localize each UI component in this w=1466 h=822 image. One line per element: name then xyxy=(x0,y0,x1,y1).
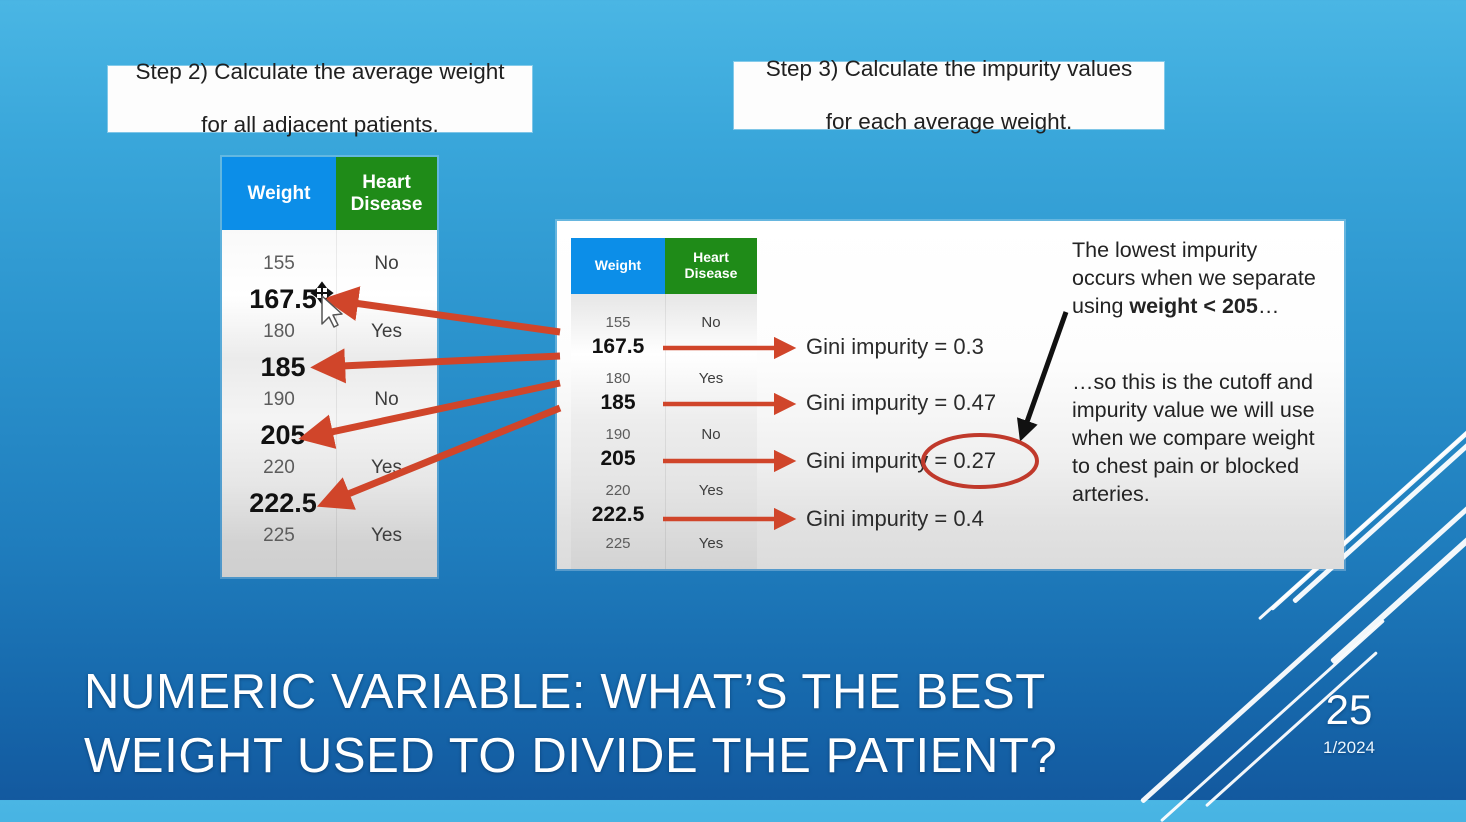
slide-date: 1/2024 xyxy=(1304,738,1394,758)
cell-weight: 180 xyxy=(222,321,336,343)
average-weight-value: 167.5 xyxy=(571,335,665,359)
note-p2-line5: arteries. xyxy=(1072,482,1150,506)
step3-caption-box: Step 3) Calculate the impurity values fo… xyxy=(734,62,1164,129)
gini-impurity-text: Gini impurity = 0.4 xyxy=(806,506,984,532)
cell-heart-disease: No xyxy=(336,389,437,411)
cell-weight: 155 xyxy=(222,253,336,275)
cell-weight: 225 xyxy=(222,525,336,547)
average-weight-value: 185 xyxy=(222,352,344,383)
step3-caption-text: Step 3) Calculate the impurity values fo… xyxy=(746,56,1152,136)
note-p1-line3-prefix: using xyxy=(1072,294,1129,318)
average-weight-value: 185 xyxy=(571,391,665,415)
note-paragraph-2: …so this is the cutoff and impurity valu… xyxy=(1072,369,1344,509)
gini-impurity-text: Gini impurity = 0.27 xyxy=(806,448,996,474)
cell-weight: 190 xyxy=(571,426,665,443)
cell-heart-disease: No xyxy=(665,314,757,331)
step2-caption-text: Step 2) Calculate the average weight for… xyxy=(116,59,525,139)
cell-weight: 220 xyxy=(571,482,665,499)
slide-number: 25 xyxy=(1304,686,1394,734)
page-title: NUMERIC VARIABLE: WHAT’S THE BEST WEIGHT… xyxy=(84,661,1144,788)
cell-heart-disease: Yes xyxy=(665,370,757,387)
right-impurity-card: Weight Heart Disease 155 No 180 Yes 190 … xyxy=(557,221,1344,569)
right-header-weight-label: Weight xyxy=(595,258,641,274)
left-table-header: Weight Heart Disease xyxy=(222,157,437,230)
step3-line2: for each average weight. xyxy=(756,109,1142,136)
gini-impurity-text: Gini impurity = 0.47 xyxy=(806,390,996,416)
step2-line1: Step 2) Calculate the average weight xyxy=(126,59,515,86)
average-weight-value: 222.5 xyxy=(571,503,665,527)
cell-heart-disease: Yes xyxy=(665,535,757,552)
note-p2-line2: impurity value we will use xyxy=(1072,398,1315,422)
left-table-column-divider xyxy=(336,230,337,577)
left-header-heart-disease: Heart Disease xyxy=(336,157,437,230)
note-p2-line1: …so this is the cutoff and xyxy=(1072,370,1313,394)
gini-impurity-text: Gini impurity = 0.3 xyxy=(806,334,984,360)
page-title-line2: WEIGHT USED TO DIVIDE THE PATIENT? xyxy=(84,725,1144,789)
note-p2-line4: to chest pain or blocked xyxy=(1072,454,1299,478)
left-header-weight: Weight xyxy=(222,157,336,230)
note-p1-line3-suffix: … xyxy=(1258,294,1280,318)
cell-weight: 190 xyxy=(222,389,336,411)
right-header-heart-disease: Heart Disease xyxy=(665,238,757,294)
page-title-line1: NUMERIC VARIABLE: WHAT’S THE BEST xyxy=(84,661,1144,725)
cell-weight: 180 xyxy=(571,370,665,387)
deco-line xyxy=(1330,439,1466,664)
left-header-heart-disease-label: Heart Disease xyxy=(351,172,423,215)
average-weight-value: 222.5 xyxy=(222,488,344,519)
step2-caption-box: Step 2) Calculate the average weight for… xyxy=(108,66,532,132)
right-header-heart-disease-label: Heart Disease xyxy=(685,250,738,281)
step3-line1: Step 3) Calculate the impurity values xyxy=(756,56,1142,83)
note-paragraph-1: The lowest impurity occurs when we separ… xyxy=(1072,237,1340,321)
note-p1-line1: The lowest impurity xyxy=(1072,238,1257,262)
cell-weight: 155 xyxy=(571,314,665,331)
average-weight-value: 205 xyxy=(571,447,665,471)
cell-weight: 220 xyxy=(222,457,336,479)
cell-heart-disease: No xyxy=(665,426,757,443)
average-weight-value: 167.5 xyxy=(222,284,344,315)
note-p2-line3: when we compare weight xyxy=(1072,426,1315,450)
cell-heart-disease: Yes xyxy=(336,321,437,343)
cell-heart-disease: Yes xyxy=(336,457,437,479)
step2-line2: for all adjacent patients. xyxy=(126,112,515,139)
right-table-column-divider xyxy=(665,294,666,569)
average-weight-value: 205 xyxy=(222,420,344,451)
left-weight-table-card: Weight Heart Disease 155 No 180 Yes 190 … xyxy=(222,157,437,577)
right-header-weight: Weight xyxy=(571,238,665,294)
left-header-weight-label: Weight xyxy=(248,183,311,204)
cell-heart-disease: No xyxy=(336,253,437,275)
note-p1-bold-rule: weight < 205 xyxy=(1129,294,1257,318)
right-table-header: Weight Heart Disease xyxy=(571,238,757,294)
cell-weight: 225 xyxy=(571,535,665,552)
cell-heart-disease: Yes xyxy=(336,525,437,547)
note-p1-line2: occurs when we separate xyxy=(1072,266,1316,290)
cell-heart-disease: Yes xyxy=(665,482,757,499)
